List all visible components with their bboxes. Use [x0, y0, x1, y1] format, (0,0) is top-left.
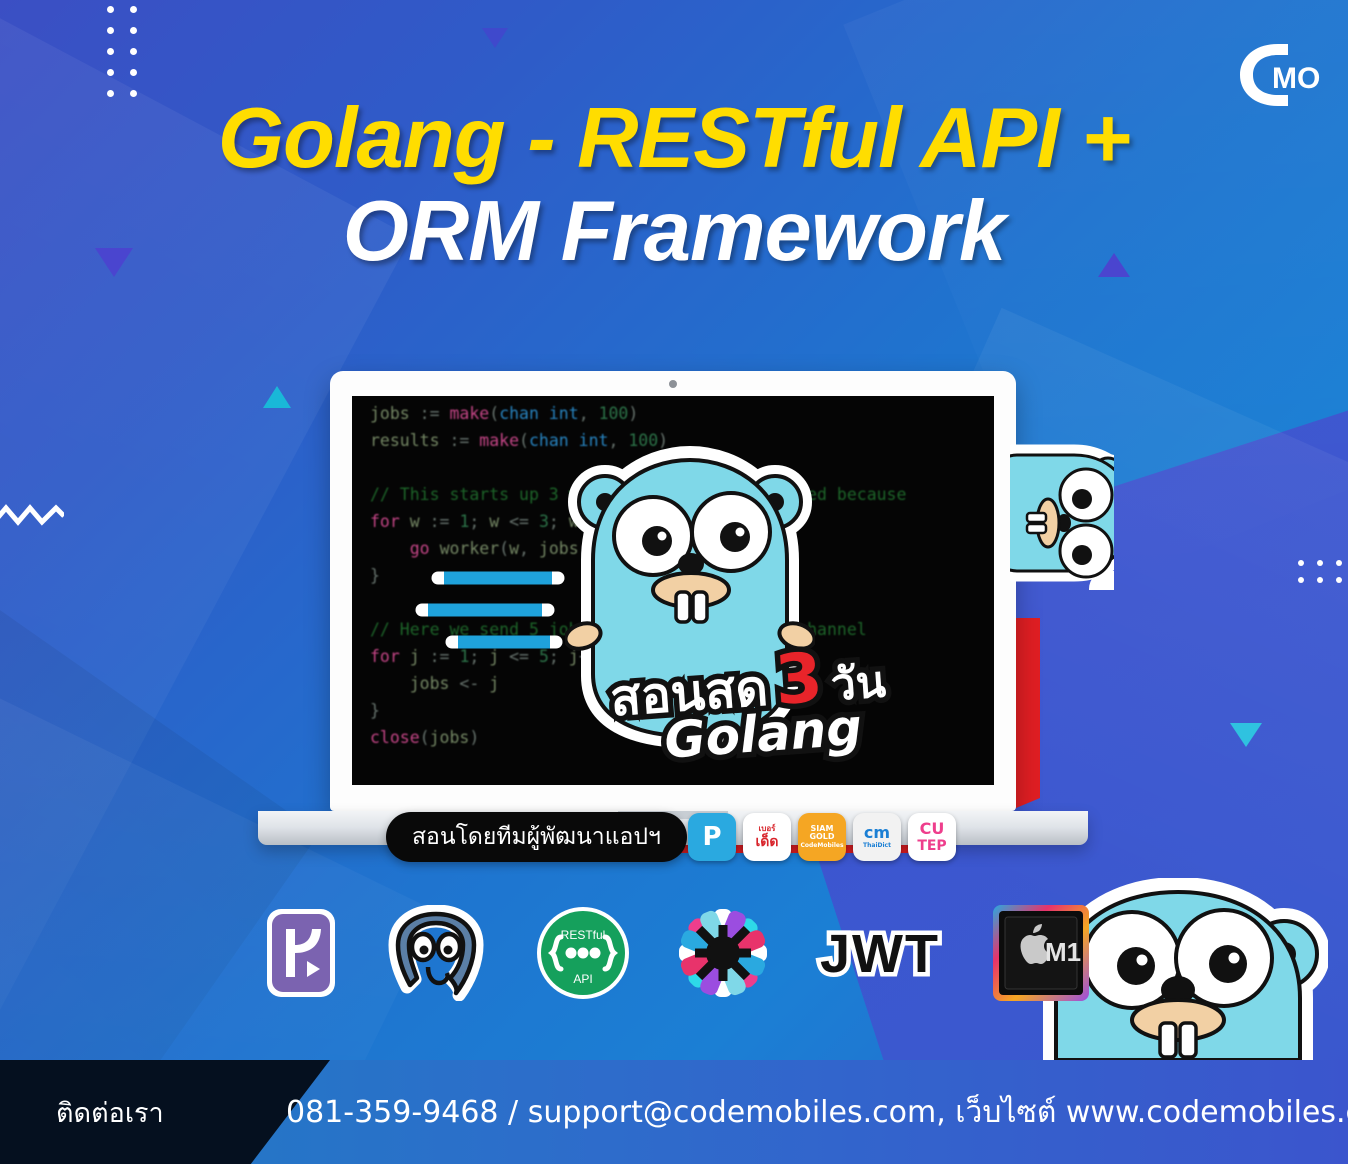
postman-logo [677, 907, 769, 999]
triangle-down-icon [482, 28, 508, 48]
siam-gold-app-icon: SIAM GOLDCodeMobiles [798, 813, 846, 861]
teach-badge-label: สอนโดยทีมผู้พัฒนาแอปฯ [412, 819, 661, 855]
svg-text:RESTful: RESTful [561, 928, 606, 942]
cutep-app-icon: CUTEP [908, 813, 956, 861]
go-speedlines-icon [408, 560, 588, 660]
heroku-logo [265, 907, 337, 999]
app-icon-strip: Pเบอร์เด็ดSIAM GOLDCodeMobilescmThaiDict… [688, 813, 956, 861]
go-gopher-peeking [1010, 425, 1114, 590]
dot-grid-icon [1298, 560, 1342, 583]
apple-m1-logo: M1 [991, 903, 1091, 1003]
cutep-app-icon-sublabel: TEP [917, 839, 946, 853]
tech-logo-row: RESTful API [265, 893, 1025, 1013]
ber-ded-app-icon: เบอร์เด็ด [743, 813, 791, 861]
p-app-icon-label: P [702, 824, 721, 850]
svg-text:MO: MO [1272, 62, 1320, 95]
headline-line-1: Golang - RESTful API + [0, 96, 1348, 183]
zigzag-icon [0, 500, 64, 530]
svg-text:API: API [573, 972, 592, 986]
triangle-up-icon [263, 386, 291, 408]
ber-ded-app-icon-sublabel: เด็ด [756, 835, 779, 849]
thaidict-app-icon-label: cm [864, 825, 890, 841]
footer-contact-info: 081-359-9468 / support@codemobiles.com, … [286, 1060, 1348, 1164]
footer-bar: ติดต่อเรา 081-359-9468 / support@codemob… [0, 1060, 1348, 1164]
postgresql-logo [383, 905, 489, 1001]
thaidict-app-icon-sublabel: ThaiDict [863, 843, 891, 849]
promo-banner: MO Golang - RESTful API + ORM Framework … [0, 0, 1348, 1164]
promo-language: Golang [663, 698, 864, 770]
siam-gold-app-icon-label: SIAM GOLD [798, 825, 846, 841]
footer-dark-shape [0, 1060, 330, 1164]
jwt-logo: JWT [815, 918, 945, 988]
dot-grid-icon [107, 6, 137, 97]
webcam-icon [669, 380, 677, 388]
svg-text:M1: M1 [1045, 937, 1081, 967]
siam-gold-app-icon-sublabel: CodeMobiles [800, 843, 843, 849]
headline-line-2: ORM Framework [0, 189, 1348, 276]
triangle-down-icon [1230, 723, 1262, 747]
thaidict-app-icon: cmThaiDict [853, 813, 901, 861]
p-app-icon: P [688, 813, 736, 861]
footer-contact-label: ติดต่อเรา [56, 1060, 164, 1164]
svg-text:JWT: JWT [820, 924, 940, 984]
ber-ded-app-icon-label: เบอร์ [759, 825, 776, 833]
teach-badge: สอนโดยทีมผู้พัฒนาแอปฯ [386, 812, 687, 862]
restful-api-logo: RESTful API [535, 905, 631, 1001]
page-title: Golang - RESTful API + ORM Framework [0, 96, 1348, 275]
promo-sticker: สอนสด 3 วัน Golang [608, 642, 916, 793]
cutep-app-icon-label: CU [920, 821, 945, 837]
